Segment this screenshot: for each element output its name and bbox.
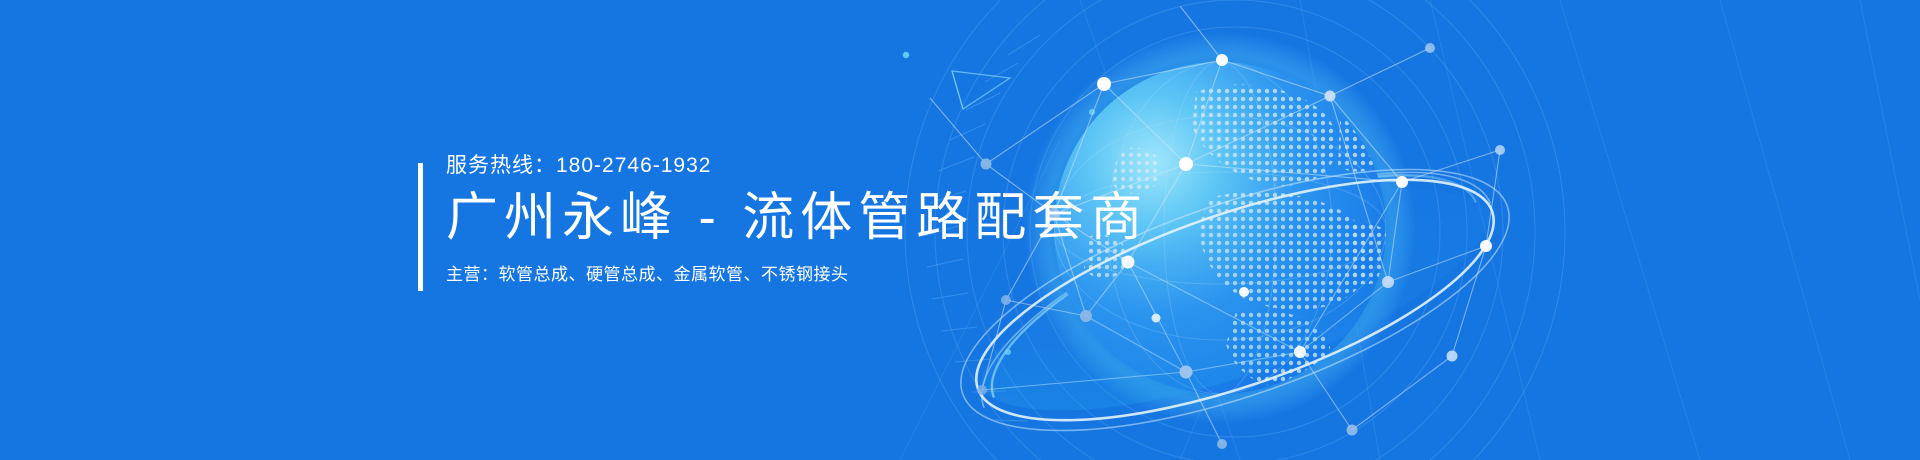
service-hotline: 服务热线：180-2746-1932 (446, 155, 1148, 176)
hero-banner: 服务热线：180-2746-1932 广州永峰 - 流体管路配套商 主营：软管总… (0, 0, 1920, 460)
banner-text-block: 服务热线：180-2746-1932 广州永峰 - 流体管路配套商 主营：软管总… (418, 155, 1148, 283)
product-summary: 主营：软管总成、硬管总成、金属软管、不锈钢接头 (446, 266, 1148, 283)
accent-bar (418, 163, 423, 291)
page-title: 广州永峰 - 流体管路配套商 (446, 192, 1148, 244)
